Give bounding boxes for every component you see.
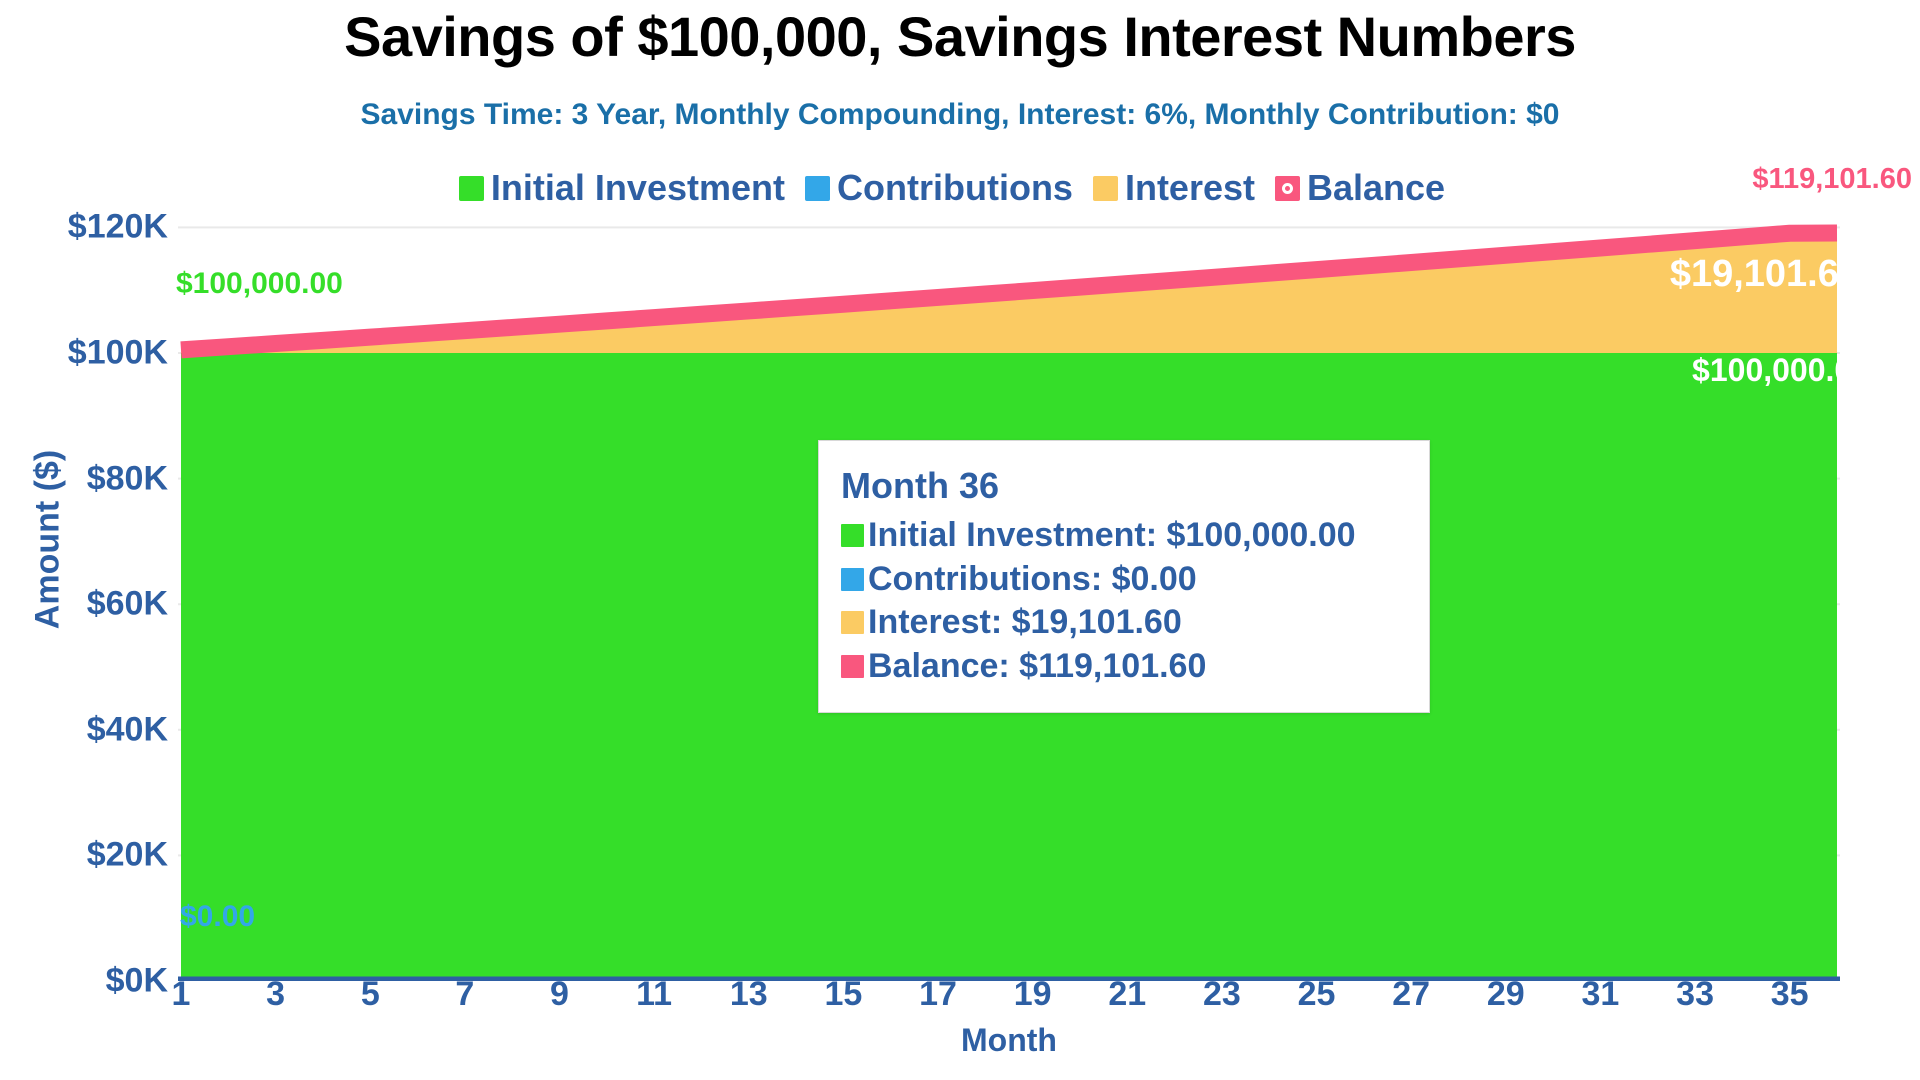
x-axis-tick-label: 7	[455, 975, 474, 1014]
chart-title: Savings of $100,000, Savings Interest Nu…	[0, 4, 1920, 69]
y-axis-tick-label: $40K	[8, 710, 168, 749]
x-axis-tick-label: 27	[1392, 975, 1430, 1014]
tooltip-swatch-balance-icon	[841, 655, 864, 678]
y-axis-tick-label: $100K	[8, 334, 168, 373]
x-axis-tick-label: 21	[1108, 975, 1146, 1014]
tooltip-row-balance: Balance: $119,101.60	[841, 645, 1403, 689]
x-axis-tick-label: 29	[1487, 975, 1525, 1014]
y-axis-tick-label: $20K	[8, 836, 168, 875]
x-axis-tick-label: 31	[1581, 975, 1619, 1014]
data-label-initial-investment-left: $100,000.00	[176, 267, 343, 301]
data-label-contributions-left: $0.00	[180, 900, 255, 934]
tooltip-swatch-interest-icon	[841, 611, 864, 634]
data-label-balance-right: $119,101.60	[1752, 163, 1912, 196]
tooltip-row-contributions: Contributions: $0.00	[841, 558, 1403, 602]
y-axis-title: Amount ($)	[29, 420, 68, 660]
x-axis-tick-label: 33	[1676, 975, 1714, 1014]
tooltip-text-balance: Balance: $119,101.60	[868, 645, 1206, 689]
x-axis-tick-label: 3	[266, 975, 285, 1014]
x-axis-tick-label: 25	[1298, 975, 1336, 1014]
chart-subtitle: Savings Time: 3 Year, Monthly Compoundin…	[0, 98, 1920, 132]
x-axis-tick-label: 35	[1771, 975, 1809, 1014]
tooltip-text-contributions: Contributions: $0.00	[868, 558, 1197, 602]
tooltip-title: Month 36	[841, 463, 1403, 508]
data-label-interest-right: $19,101.60	[1670, 253, 1860, 296]
x-axis-tick-label: 9	[550, 975, 569, 1014]
x-axis-tick-label: 11	[636, 975, 672, 1014]
tooltip-text-initial-investment: Initial Investment: $100,000.00	[868, 514, 1356, 558]
data-label-initial-investment-right: $100,000.00	[1692, 352, 1870, 389]
tooltip-swatch-initial-investment-icon	[841, 524, 864, 547]
x-axis-tick-label: 15	[824, 975, 862, 1014]
x-axis-tick-label: 23	[1203, 975, 1241, 1014]
tooltip-swatch-contributions-icon	[841, 568, 864, 591]
x-axis-title: Month	[178, 1022, 1840, 1059]
y-axis-tick-label: $120K	[8, 208, 168, 247]
tooltip-row-interest: Interest: $19,101.60	[841, 601, 1403, 645]
x-axis-tick-label: 19	[1014, 975, 1052, 1014]
y-axis-tick-label: $0K	[8, 962, 168, 1001]
x-axis-tick-label: 17	[919, 975, 957, 1014]
x-axis-tick-label: 5	[361, 975, 380, 1014]
x-axis-ticks: 1357911131517192123252729313335	[178, 975, 1840, 1025]
x-axis-tick-label: 13	[730, 975, 768, 1014]
chart-tooltip: Month 36 Initial Investment: $100,000.00…	[818, 440, 1430, 713]
tooltip-row-initial-investment: Initial Investment: $100,000.00	[841, 514, 1403, 558]
x-axis-tick-label: 1	[172, 975, 191, 1014]
tooltip-text-interest: Interest: $19,101.60	[868, 601, 1182, 645]
y-axis-ticks: $0K$20K$40K$60K$80K$100K$120K	[0, 196, 168, 981]
